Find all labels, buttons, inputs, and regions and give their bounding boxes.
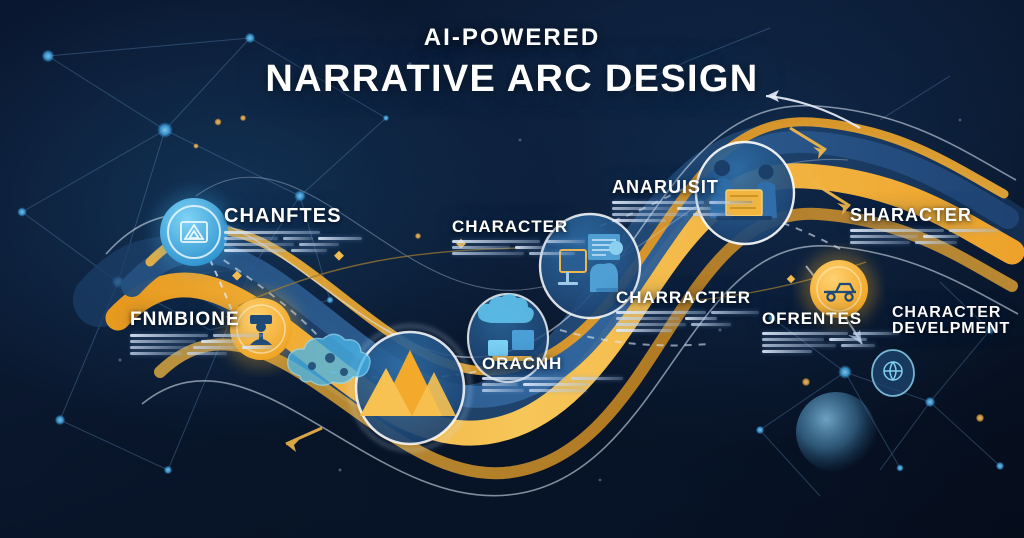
label-ofrentes: OFRENTES bbox=[762, 310, 899, 353]
text-line bbox=[850, 235, 918, 238]
text-line bbox=[529, 252, 575, 255]
text-line bbox=[762, 338, 824, 341]
label-heading-anaruisit: ANARUISIT bbox=[612, 178, 753, 196]
text-line bbox=[224, 237, 278, 240]
text-line bbox=[545, 240, 585, 243]
text-line bbox=[523, 383, 589, 386]
text-line bbox=[762, 344, 836, 347]
text-line bbox=[915, 241, 957, 244]
label-heading-oracnh: ORACNH bbox=[482, 355, 623, 372]
text-line bbox=[130, 352, 182, 355]
text-line bbox=[224, 231, 320, 234]
label-character-mid: CHARACTER bbox=[452, 218, 585, 255]
text-line bbox=[612, 201, 704, 204]
text-line bbox=[299, 243, 339, 246]
text-line bbox=[850, 229, 944, 232]
text-line bbox=[529, 389, 587, 392]
text-line bbox=[616, 323, 686, 326]
text-line bbox=[616, 329, 672, 332]
text-line bbox=[762, 350, 812, 353]
label-heading-chanftes: CHANFTES bbox=[224, 206, 362, 226]
text-line bbox=[130, 334, 208, 337]
text-line bbox=[612, 207, 672, 210]
text-line bbox=[829, 338, 867, 341]
text-line bbox=[850, 241, 910, 244]
text-line bbox=[571, 377, 623, 380]
label-character-devel: CHARACTER DEVELPMENT bbox=[892, 305, 1010, 338]
text-line bbox=[616, 311, 706, 314]
text-line bbox=[130, 340, 196, 343]
label-heading-fnmbione: FNMBIONE bbox=[130, 310, 272, 329]
label-heading-ofrentes: OFRENTES bbox=[762, 310, 899, 327]
label-body-lines-charractier bbox=[616, 311, 759, 332]
label-fnmbione: FNMBIONE bbox=[130, 310, 272, 355]
text-line bbox=[612, 213, 688, 216]
label-body-lines-oracnh bbox=[482, 377, 623, 392]
text-line bbox=[452, 240, 540, 243]
text-line bbox=[616, 317, 680, 320]
infographic-canvas: AI-POWERED NARRATIVE ARC DESIGN CHANFTES… bbox=[0, 0, 1024, 538]
label-heading-character-devel: CHARACTER DEVELPMENT bbox=[892, 305, 1010, 338]
text-line bbox=[452, 252, 524, 255]
text-line bbox=[283, 237, 313, 240]
text-line bbox=[709, 201, 753, 204]
text-line bbox=[677, 207, 711, 210]
label-heading-sharacter: SHARACTER bbox=[850, 206, 999, 224]
text-line bbox=[201, 340, 235, 343]
label-body-lines-fnmbione bbox=[130, 334, 272, 355]
label-anaruisit: ANARUISIT bbox=[612, 178, 753, 222]
text-line bbox=[612, 219, 666, 222]
label-body-lines-chanftes bbox=[224, 231, 362, 252]
text-line bbox=[482, 377, 566, 380]
text-line bbox=[691, 323, 731, 326]
text-line bbox=[242, 346, 272, 349]
text-line bbox=[318, 237, 362, 240]
text-line bbox=[482, 383, 518, 386]
text-line bbox=[841, 344, 875, 347]
label-body-lines-ofrentes bbox=[762, 332, 899, 353]
label-body-lines-sharacter bbox=[850, 229, 999, 244]
text-line bbox=[187, 352, 227, 355]
label-body-lines-anaruisit bbox=[612, 201, 753, 222]
text-line bbox=[762, 332, 848, 335]
text-line bbox=[515, 246, 545, 249]
text-line bbox=[213, 334, 263, 337]
text-line bbox=[291, 249, 327, 252]
label-oracnh: ORACNH bbox=[482, 355, 623, 392]
text-line bbox=[685, 317, 717, 320]
text-line bbox=[949, 229, 999, 232]
label-heading-character-mid: CHARACTER bbox=[452, 218, 585, 235]
text-line bbox=[711, 311, 759, 314]
label-layer: CHANFTESFNMBIONECHARACTERANARUISITORACNH… bbox=[0, 0, 1024, 538]
text-line bbox=[452, 246, 510, 249]
text-line bbox=[224, 243, 294, 246]
text-line bbox=[482, 389, 524, 392]
label-charractier: CHARRACTIER bbox=[616, 289, 759, 332]
text-line bbox=[193, 346, 237, 349]
label-sharacter: SHARACTER bbox=[850, 206, 999, 244]
text-line bbox=[693, 213, 731, 216]
text-line bbox=[923, 235, 959, 238]
label-chanftes: CHANFTES bbox=[224, 206, 362, 252]
text-line bbox=[224, 249, 286, 252]
text-line bbox=[130, 346, 188, 349]
label-heading-charractier: CHARRACTIER bbox=[616, 289, 759, 306]
label-body-lines-character-mid bbox=[452, 240, 585, 255]
